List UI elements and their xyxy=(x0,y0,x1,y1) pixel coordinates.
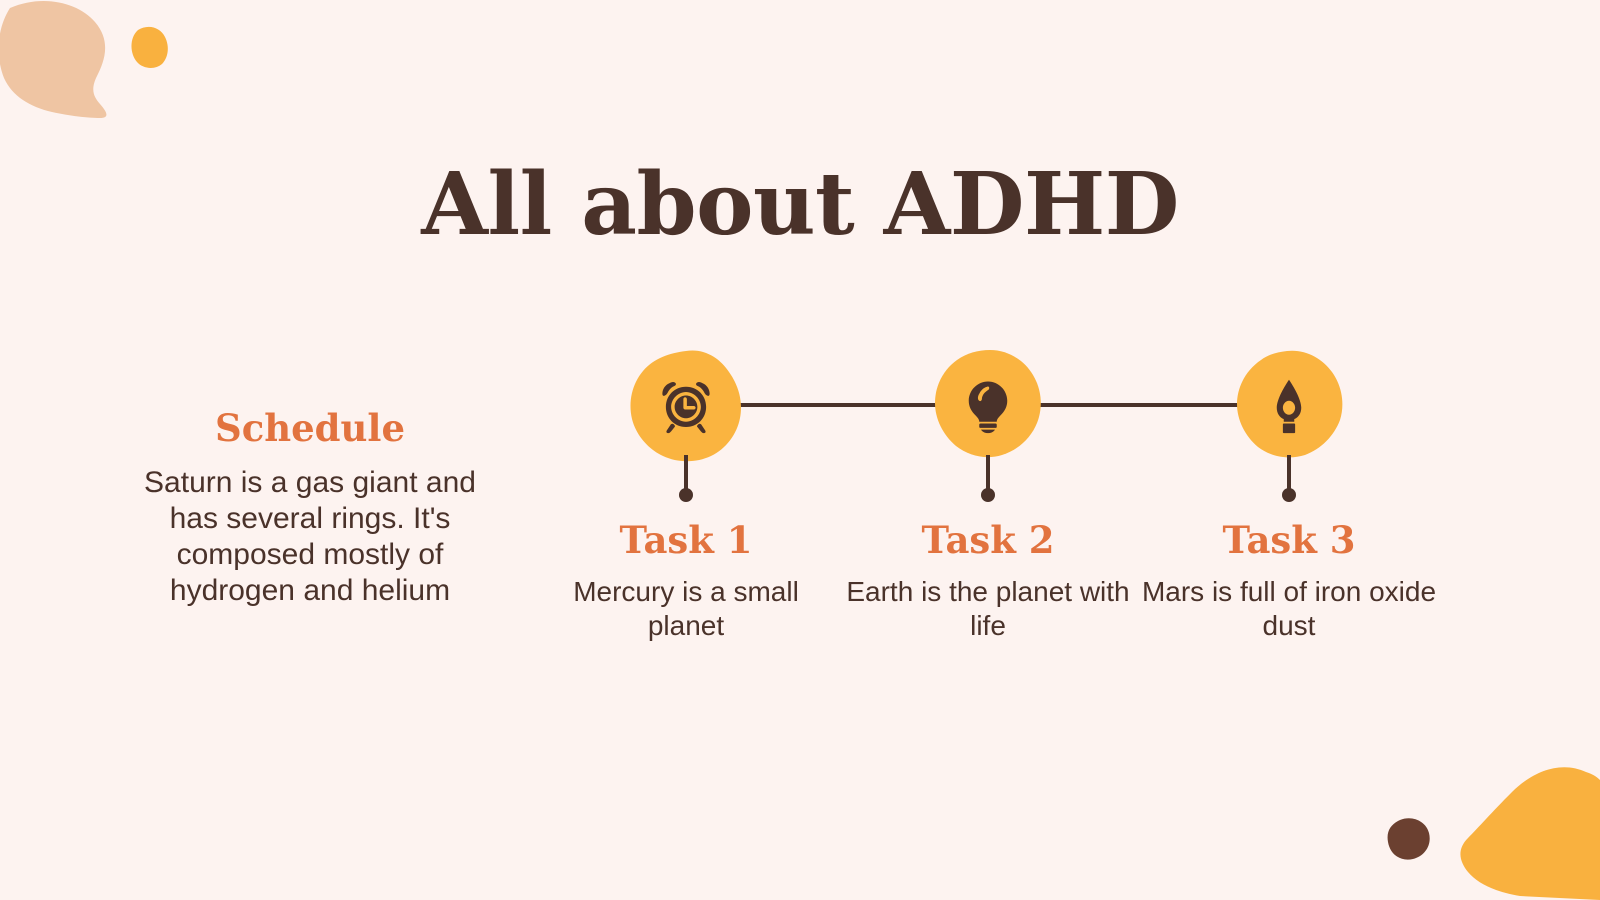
timeline-node-3[interactable] xyxy=(1233,350,1345,462)
task-block-2: Task 2 Earth is the planet with life xyxy=(838,520,1138,644)
task-block-3: Task 3 Mars is full of iron oxide dust xyxy=(1139,520,1439,644)
task-description-3: Mars is full of iron oxide dust xyxy=(1139,575,1439,644)
timeline-dot-3 xyxy=(1282,488,1296,502)
pen-nib-icon xyxy=(1261,378,1317,434)
light-bulb-icon xyxy=(960,378,1016,434)
slide-canvas: All about ADHD Schedule Saturn is a gas … xyxy=(0,0,1600,900)
timeline-dot-1 xyxy=(679,488,693,502)
task-description-2: Earth is the planet with life xyxy=(838,575,1138,644)
alarm-clock-icon xyxy=(658,378,714,434)
timeline-node-2[interactable] xyxy=(932,350,1044,462)
task-title-2: Task 2 xyxy=(838,520,1138,561)
timeline-stem-3 xyxy=(1287,455,1291,491)
task-description-1: Mercury is a small planet xyxy=(536,575,836,644)
timeline: Task 1 Mercury is a small planet Task 2 … xyxy=(0,0,1600,900)
task-title-3: Task 3 xyxy=(1139,520,1439,561)
task-title-1: Task 1 xyxy=(536,520,836,561)
timeline-stem-1 xyxy=(684,455,688,491)
task-block-1: Task 1 Mercury is a small planet xyxy=(536,520,836,644)
timeline-stem-2 xyxy=(986,455,990,491)
timeline-dot-2 xyxy=(981,488,995,502)
timeline-node-1[interactable] xyxy=(630,350,742,462)
